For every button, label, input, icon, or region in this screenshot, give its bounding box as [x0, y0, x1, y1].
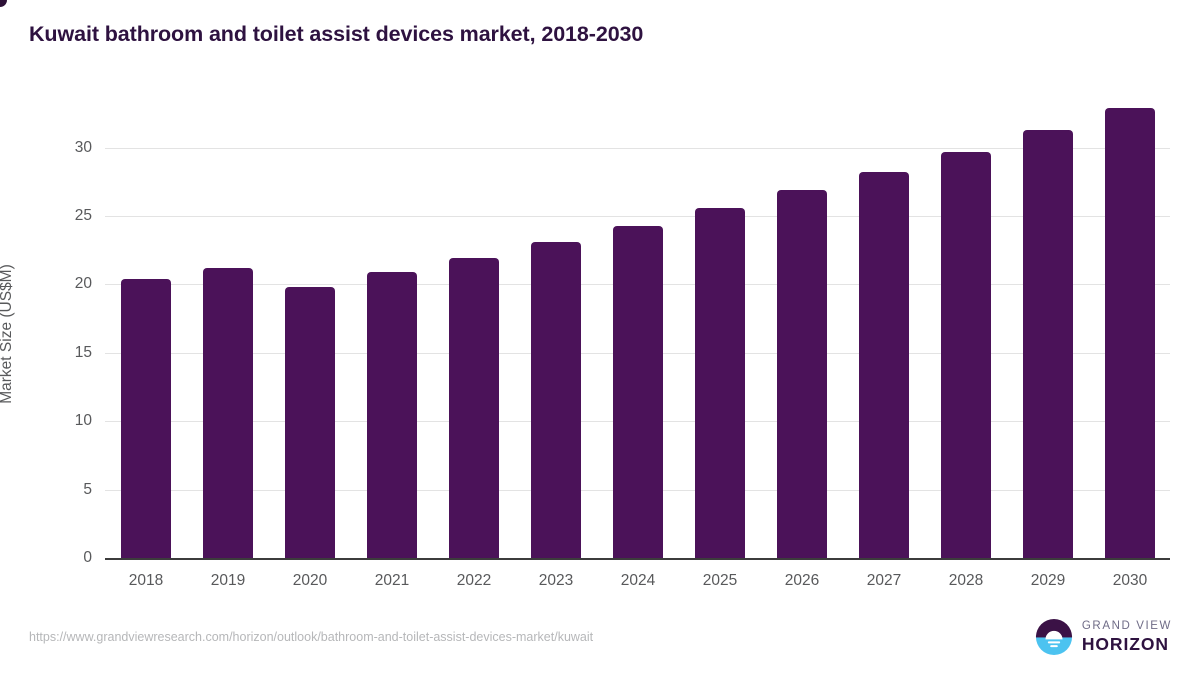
x-axis-tick-label-2026: 2026	[761, 572, 843, 590]
y-axis-tick-label: 5	[32, 481, 92, 499]
x-axis-tick-label-2025: 2025	[679, 572, 761, 590]
brand-name-bottom: HORIZON	[1082, 636, 1172, 654]
bar-2023[interactable]	[531, 242, 581, 558]
bar-2021[interactable]	[367, 272, 417, 558]
y-axis-tick-label: 10	[32, 412, 92, 430]
bar-2027[interactable]	[859, 172, 909, 558]
bar-2020[interactable]	[285, 287, 335, 558]
bar-2028[interactable]	[941, 152, 991, 558]
bar-2022[interactable]	[449, 258, 499, 558]
gridline	[105, 216, 1170, 217]
brand-logo[interactable]: GRAND VIEW HORIZON	[1035, 618, 1172, 656]
gridline	[105, 148, 1170, 149]
y-axis-tick-label: 15	[32, 344, 92, 362]
x-axis-tick-label-2019: 2019	[187, 572, 269, 590]
y-axis-tick-label: 25	[32, 207, 92, 225]
bar-2025[interactable]	[695, 208, 745, 558]
x-axis-tick-label-2021: 2021	[351, 572, 433, 590]
x-axis-tick-label-2027: 2027	[843, 572, 925, 590]
bar-2029[interactable]	[1023, 130, 1073, 558]
bar-2024[interactable]	[613, 226, 663, 558]
bar-2019[interactable]	[203, 268, 253, 558]
chart-page: Kuwait bathroom and toilet assist device…	[0, 0, 1200, 675]
x-axis-tick-label-2030: 2030	[1089, 572, 1171, 590]
brand-wordmark: GRAND VIEW HORIZON	[1082, 621, 1172, 653]
x-axis-tick-label-2023: 2023	[515, 572, 597, 590]
x-axis-tick-label-2024: 2024	[597, 572, 679, 590]
chart-plot: Market Size (US$M) 051015202530 20182019…	[0, 0, 1200, 675]
x-axis-line	[105, 558, 1170, 560]
x-axis-tick-label-2029: 2029	[1007, 572, 1089, 590]
bar-2030[interactable]	[1105, 108, 1155, 558]
x-axis-tick-label-2022: 2022	[433, 572, 515, 590]
brand-name-top: GRAND VIEW	[1082, 621, 1172, 633]
grand-view-horizon-logo-icon	[1035, 618, 1073, 656]
y-axis-label: Market Size (US$M)	[0, 264, 16, 404]
x-axis-tick-label-2018: 2018	[105, 572, 187, 590]
bar-2018[interactable]	[121, 279, 171, 558]
y-axis-tick-label: 20	[32, 275, 92, 293]
bar-2026[interactable]	[777, 190, 827, 558]
y-axis-tick-label: 0	[32, 549, 92, 567]
y-axis-tick-label: 30	[32, 139, 92, 157]
x-axis-tick-label-2028: 2028	[925, 572, 1007, 590]
source-url[interactable]: https://www.grandviewresearch.com/horizo…	[29, 630, 593, 644]
x-axis-tick-label-2020: 2020	[269, 572, 351, 590]
